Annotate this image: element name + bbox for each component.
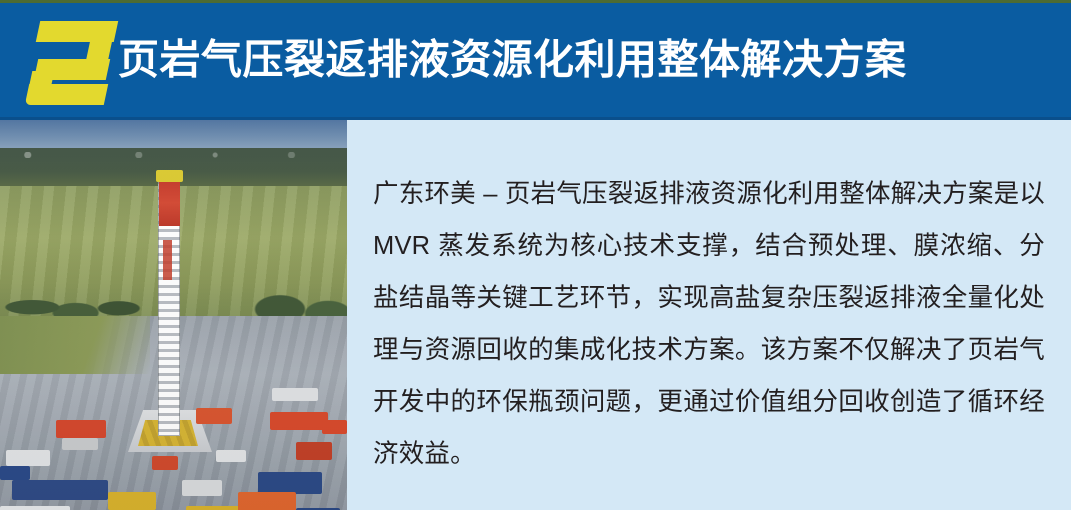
description-panel: 广东环美 – 页岩气压裂返排液资源化利用整体解决方案是以 MVR 蒸发系统为核心… [347,120,1071,510]
section-title: 页岩气压裂返排液资源化利用整体解决方案 [118,40,907,81]
photo-vehicle [216,450,246,462]
photo-vehicle [62,438,98,450]
description-paragraph: 广东环美 – 页岩气压裂返排液资源化利用整体解决方案是以 MVR 蒸发系统为核心… [373,168,1045,480]
photo-vehicle [196,408,232,424]
photo-pad-grass-edge [0,316,150,374]
photo-vehicle [270,412,328,430]
photo-derrick-crown [156,170,183,182]
photo-vehicle [0,506,70,510]
section-header-banner: 页岩气压裂返排液资源化利用整体解决方案 [0,3,1071,120]
photo-vehicle [272,388,318,401]
photo-vehicle [0,466,30,480]
photo-vehicle [238,492,296,510]
photo-vehicle [322,420,347,434]
photo-vehicle [108,492,156,510]
photo-vehicle [296,442,332,460]
photo-derrick-mast-red-lower [163,240,172,280]
numeral-stroke-bottom [25,84,108,105]
drilling-site-photo [0,120,347,510]
section-number-2-icon [30,21,116,105]
photo-vehicle [6,450,50,466]
photo-vehicle [258,472,322,494]
photo-vehicle [12,480,108,500]
photo-vehicle [182,480,222,496]
photo-derrick-mast-red-section [159,180,180,226]
photo-vehicle [152,456,178,470]
photo-vehicle [56,420,106,438]
solution-section-page: 页岩气压裂返排液资源化利用整体解决方案 [0,0,1071,510]
